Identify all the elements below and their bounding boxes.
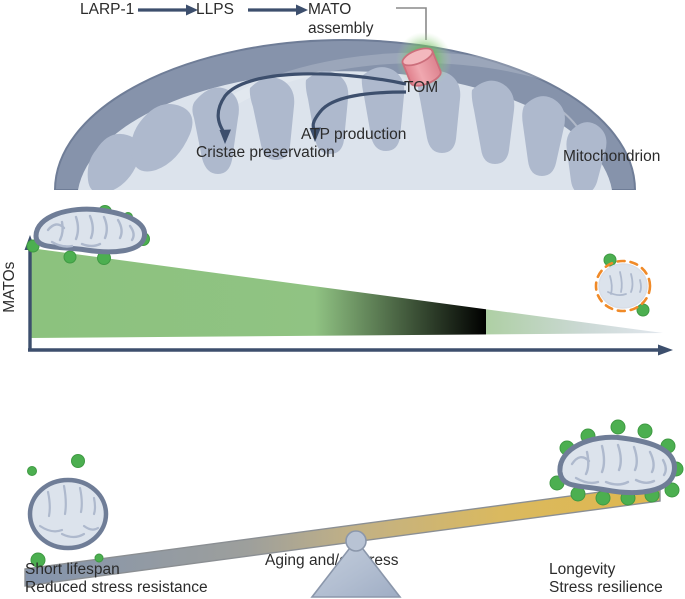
- left-mitochondrion-icon: [28, 455, 107, 568]
- figure-root: LARP-1 LLPS MATO assembly TOM ATP produc…: [0, 0, 685, 599]
- middle-panel-graphics: [0, 190, 685, 390]
- label-reduced-stress-resistance: Reduced stress resistance: [25, 579, 208, 597]
- stressed-mitochondrion-icon: [596, 254, 650, 316]
- right-mitochondrion-icon: [550, 420, 683, 505]
- label-mato-assembly: assembly: [308, 20, 373, 38]
- mato-decline-chart: Aging and/or stress: [0, 190, 685, 390]
- label-short-lifespan: Short lifespan: [25, 561, 120, 579]
- label-stress-resilience: Stress resilience: [549, 579, 663, 597]
- y-axis-label: MATOs: [1, 257, 19, 317]
- label-mitochondrion: Mitochondrion: [563, 148, 660, 166]
- label-longevity: Longevity: [549, 561, 615, 579]
- label-llps: LLPS: [196, 1, 234, 19]
- label-larp1: LARP-1: [80, 1, 134, 19]
- mitochondrion-illustration: [55, 40, 635, 190]
- mato-decline-wedge: [30, 248, 663, 338]
- fulcrum-pivot: [346, 531, 366, 551]
- label-tom: TOM: [404, 79, 438, 97]
- label-atp-production: ATP production: [301, 126, 406, 144]
- label-cristae-preservation: Cristae preservation: [196, 144, 335, 162]
- label-mato: MATO: [308, 1, 351, 19]
- mato-assembly-panel: LARP-1 LLPS MATO assembly TOM ATP produc…: [0, 0, 685, 190]
